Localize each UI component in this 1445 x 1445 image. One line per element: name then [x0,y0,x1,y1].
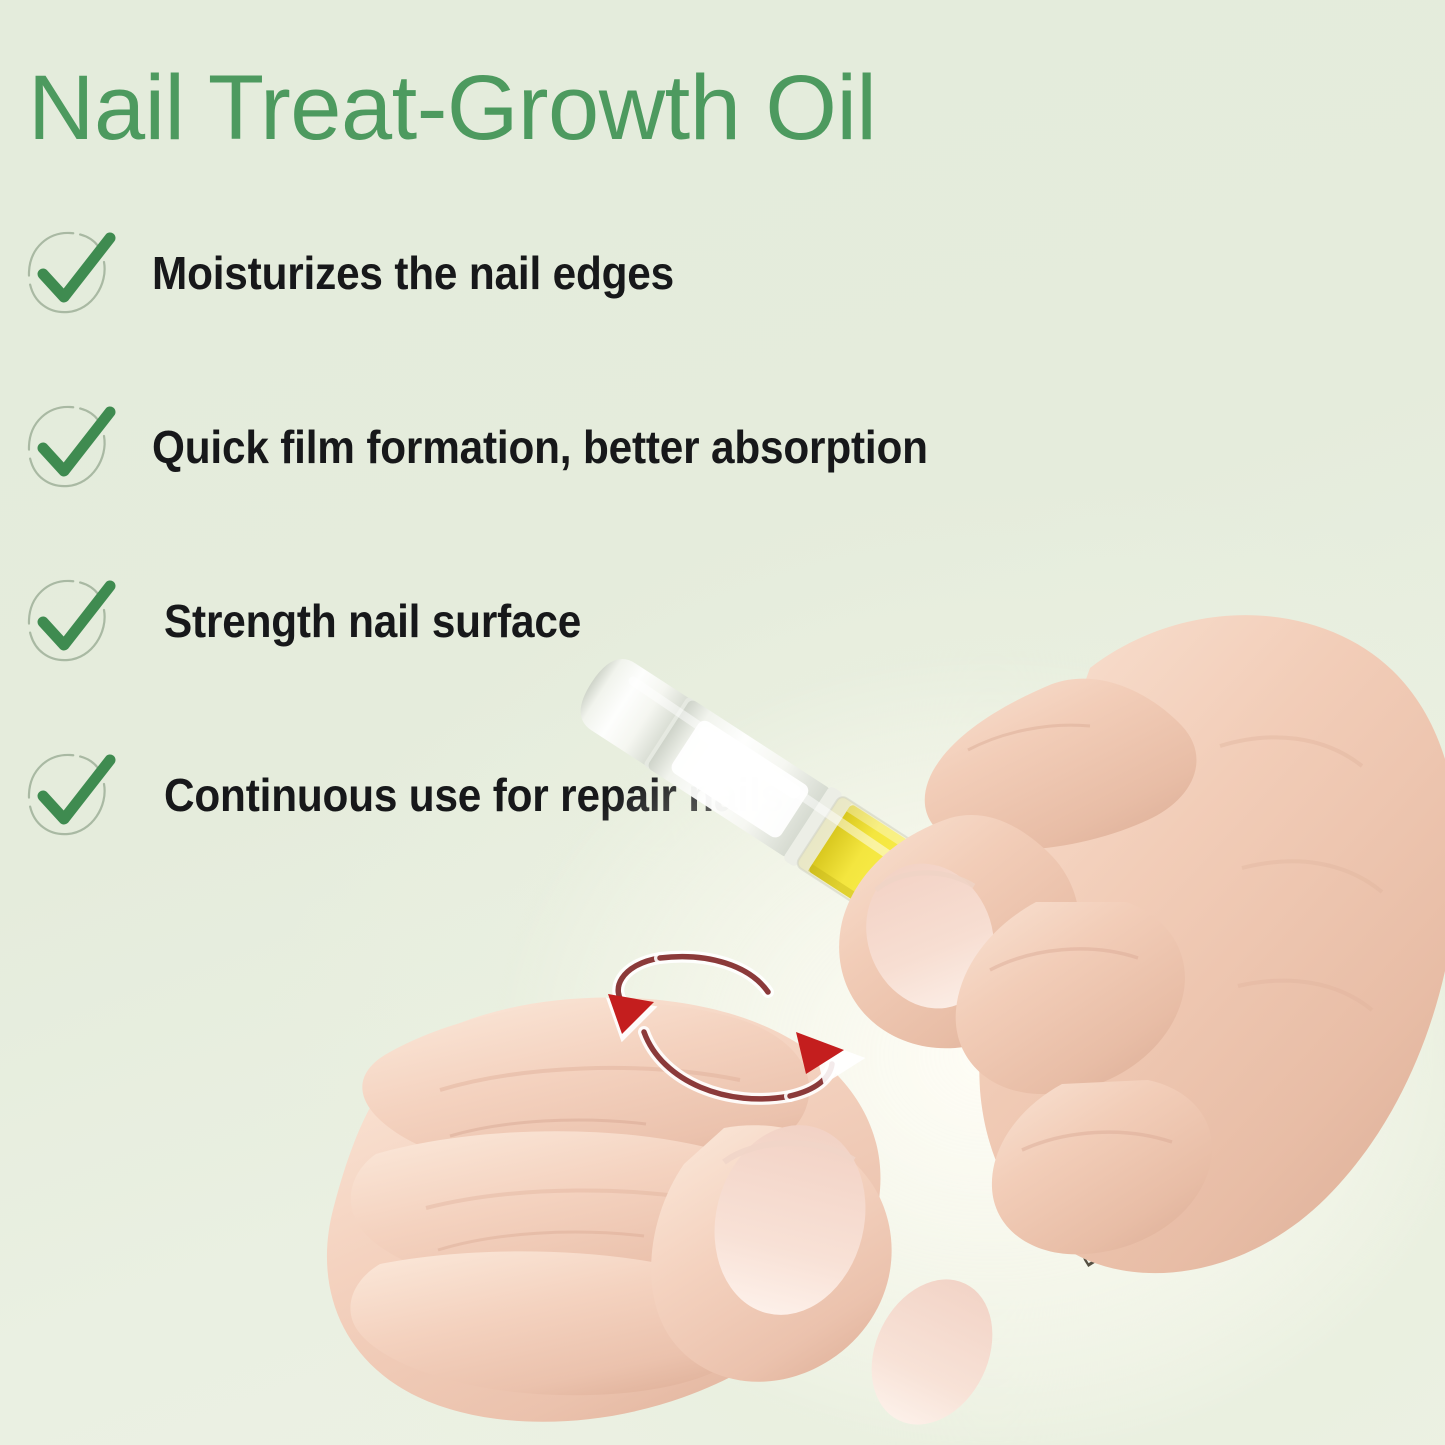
check-circle-icon [18,570,120,672]
check-circle-icon [18,744,120,846]
feature-label: Quick film formation, better absorption [152,420,928,474]
product-photo: REJUVENATION Nail Growth Oil [250,470,1445,1445]
feature-item: Moisturizes the nail edges [18,222,719,324]
page-title: Nail Treat-Growth Oil [28,62,876,154]
check-circle-icon [18,396,120,498]
left-hand-holding-pen-base [320,940,1020,1445]
check-circle-icon [18,222,120,324]
product-feature-card: Nail Treat-Growth Oil Moisturizes the na… [0,0,1445,1445]
feature-label: Moisturizes the nail edges [152,246,674,300]
